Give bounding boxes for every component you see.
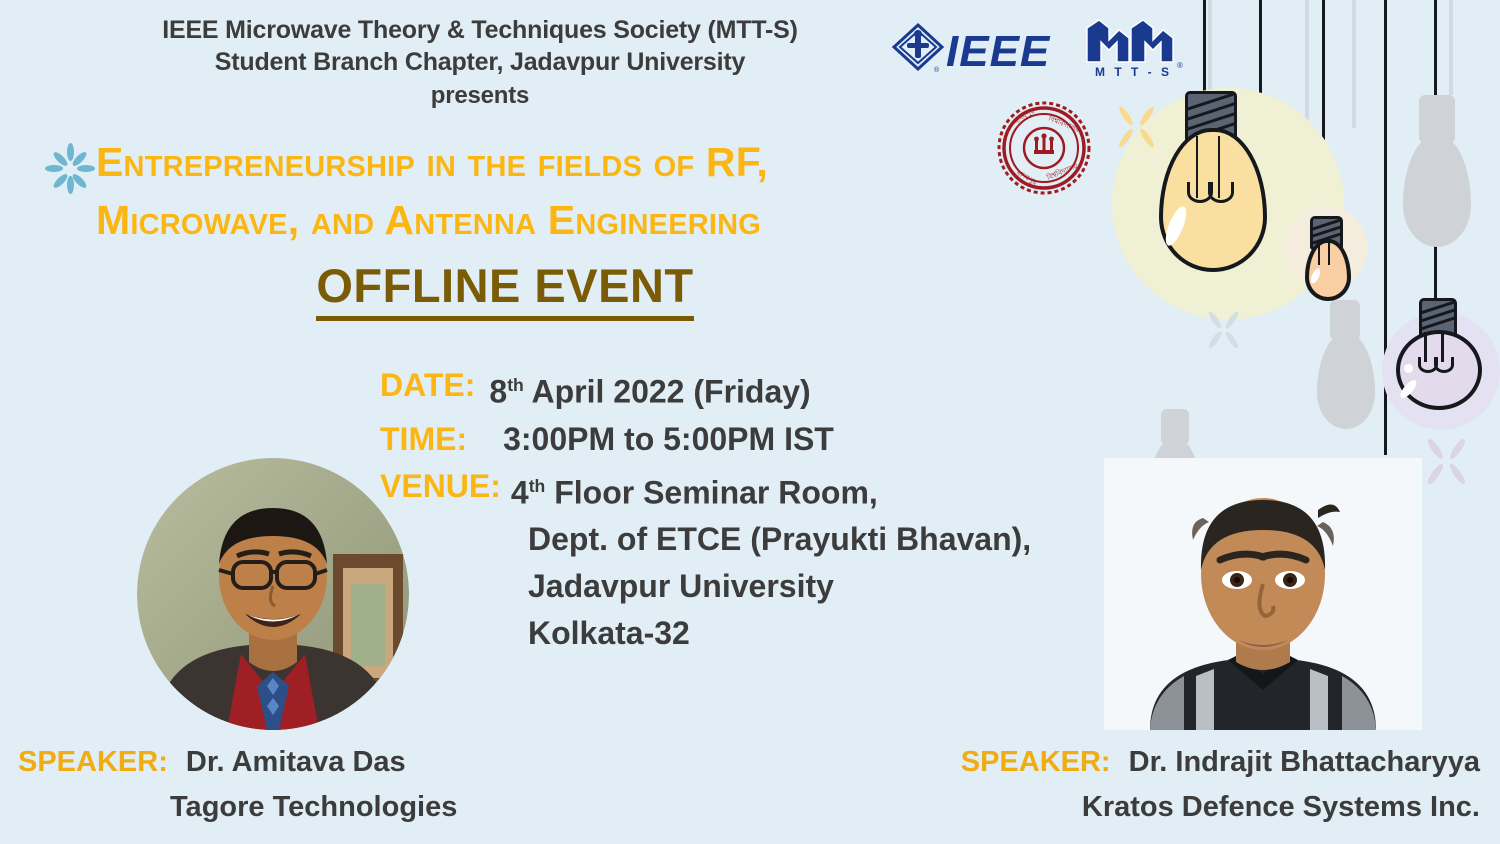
mtts-logo: M T T - S ® bbox=[1085, 18, 1190, 80]
ghost-bulb-2 bbox=[1317, 333, 1375, 429]
speaker-name-right: Dr. Indrajit Bhattacharyya bbox=[1129, 746, 1480, 778]
date-label: DATE: bbox=[380, 362, 475, 409]
bulb-cord-3 bbox=[1322, 0, 1325, 203]
date-value: 8th April 2022 (Friday) bbox=[489, 362, 810, 416]
bulb-shine-round bbox=[1404, 364, 1413, 373]
bulb-filament-large-2 bbox=[1218, 136, 1220, 198]
speaker-photo-amitava-das bbox=[137, 458, 409, 730]
bulb-glass-round bbox=[1396, 330, 1482, 410]
venue-label: VENUE: bbox=[380, 463, 501, 510]
speaker-org-left: Tagore Technologies bbox=[170, 785, 457, 830]
speaker-caption-left: SPEAKER: Dr. Amitava Das Tagore Technolo… bbox=[18, 740, 457, 830]
venue-value-line-3: Jadavpur University bbox=[528, 563, 1100, 610]
bulb-shine-large bbox=[1162, 204, 1191, 248]
header-line-2: Student Branch Chapter, Jadavpur Univers… bbox=[0, 46, 960, 78]
bulb-cord-faint-1 bbox=[1208, 0, 1212, 150]
bulb-glass-small bbox=[1305, 239, 1351, 301]
svg-text:®: ® bbox=[1177, 61, 1183, 70]
ghost-bulb-cap-3 bbox=[1161, 409, 1189, 445]
date-day-suffix: th bbox=[507, 375, 524, 395]
bulb-cord-faint-3 bbox=[1352, 0, 1356, 128]
speaker-caption-right: SPEAKER: Dr. Indrajit Bhattacharyya Krat… bbox=[961, 740, 1480, 830]
bulb-filament-loop-large-2 bbox=[1208, 182, 1234, 203]
detail-row-venue: VENUE: 4th Floor Seminar Room, bbox=[380, 463, 1100, 517]
sparkle-icon-yellow bbox=[1110, 100, 1162, 152]
date-rest: April 2022 (Friday) bbox=[524, 374, 811, 410]
time-value: 3:00PM to 5:00PM IST bbox=[503, 416, 834, 463]
bulb-filament-round bbox=[1424, 332, 1427, 362]
bulb-cap-large bbox=[1185, 91, 1237, 145]
organization-header: IEEE Microwave Theory & Techniques Socie… bbox=[0, 14, 960, 112]
bulb-shine-round-2 bbox=[1398, 378, 1419, 401]
time-label: TIME: bbox=[380, 416, 467, 463]
sparkle-icon-blue bbox=[42, 140, 98, 196]
detail-row-time: TIME: 3:00PM to 5:00PM IST bbox=[380, 416, 1100, 463]
venue-floor: 4 bbox=[511, 474, 529, 510]
ieee-logo: IEEE ® bbox=[890, 22, 1080, 74]
detail-row-date: DATE: 8th April 2022 (Friday) bbox=[380, 362, 1100, 416]
date-day: 8 bbox=[489, 374, 507, 410]
mtts-wordmark: M T T - S bbox=[1095, 65, 1172, 79]
venue-room: Floor Seminar Room, bbox=[545, 474, 877, 510]
event-title-line-2: Microwave, and Antenna Engineering bbox=[96, 191, 986, 249]
jadavpur-university-seal: যাদবপুর বিশ্ববিদ্যালয় যাদবপুর বিশ্ববিদ্… bbox=[996, 100, 1092, 196]
event-mode-text: OFFLINE EVENT bbox=[316, 259, 693, 321]
bulb-cord-2 bbox=[1259, 0, 1262, 300]
event-details: DATE: 8th April 2022 (Friday) TIME: 3:00… bbox=[380, 362, 1100, 657]
presents-label: presents bbox=[0, 80, 960, 112]
bulb-filament-loop-round-2 bbox=[1434, 357, 1454, 373]
bulb-cord-faint-2 bbox=[1305, 0, 1309, 290]
bulb-glow-large bbox=[1112, 88, 1344, 320]
bulb-cord-1 bbox=[1203, 0, 1206, 96]
speaker-label-left: SPEAKER: bbox=[18, 746, 168, 778]
bulb-filament-small bbox=[1318, 243, 1320, 265]
bulb-filament-small-2 bbox=[1328, 243, 1330, 265]
bulb-cord-4 bbox=[1384, 0, 1387, 455]
bulb-filament-large bbox=[1196, 136, 1198, 198]
sparkle-icon-lavender-2 bbox=[1200, 306, 1246, 352]
ghost-bulb-1 bbox=[1403, 135, 1471, 247]
event-poster: IEEE Microwave Theory & Techniques Socie… bbox=[0, 0, 1500, 844]
page-title: Entrepreneurship in the fields of RF, Mi… bbox=[96, 133, 986, 249]
venue-value-line-2: Dept. of ETCE (Prayukti Bhavan), bbox=[528, 516, 1100, 563]
event-mode-heading: OFFLINE EVENT bbox=[0, 258, 1010, 313]
bulb-cap-round bbox=[1419, 298, 1457, 338]
header-line-1: IEEE Microwave Theory & Techniques Socie… bbox=[0, 14, 960, 46]
bulb-filament-loop-round bbox=[1418, 357, 1438, 373]
speaker-photo-indrajit-bhattacharyya bbox=[1104, 458, 1422, 730]
bulb-filament-round-2 bbox=[1441, 332, 1444, 362]
bulb-glow-round bbox=[1382, 312, 1500, 430]
bulb-filament-loop-large bbox=[1187, 182, 1213, 203]
sparkle-icon-lavender-1 bbox=[1418, 432, 1474, 488]
bulb-cord-faint-4 bbox=[1449, 0, 1453, 95]
speaker-name-left: Dr. Amitava Das bbox=[186, 746, 406, 778]
venue-value-line-4: Kolkata-32 bbox=[528, 610, 1100, 657]
bulb-shine-small bbox=[1309, 267, 1322, 284]
svg-text:®: ® bbox=[934, 66, 940, 74]
bulb-glow-small bbox=[1284, 206, 1368, 290]
ghost-bulb-cap-1 bbox=[1419, 95, 1455, 143]
event-title-line-1: Entrepreneurship in the fields of RF, bbox=[96, 133, 986, 191]
venue-value-line-1: 4th Floor Seminar Room, bbox=[511, 463, 878, 517]
speaker-org-right: Kratos Defence Systems Inc. bbox=[961, 785, 1480, 830]
bulb-cap-small bbox=[1310, 216, 1343, 250]
bulb-cord-5 bbox=[1434, 0, 1437, 330]
svg-text:IEEE: IEEE bbox=[946, 27, 1051, 74]
ghost-bulb-cap-2 bbox=[1330, 300, 1360, 340]
venue-floor-suffix: th bbox=[529, 476, 546, 496]
speaker-label-right: SPEAKER: bbox=[961, 746, 1111, 778]
bulb-glass-large bbox=[1159, 128, 1267, 272]
